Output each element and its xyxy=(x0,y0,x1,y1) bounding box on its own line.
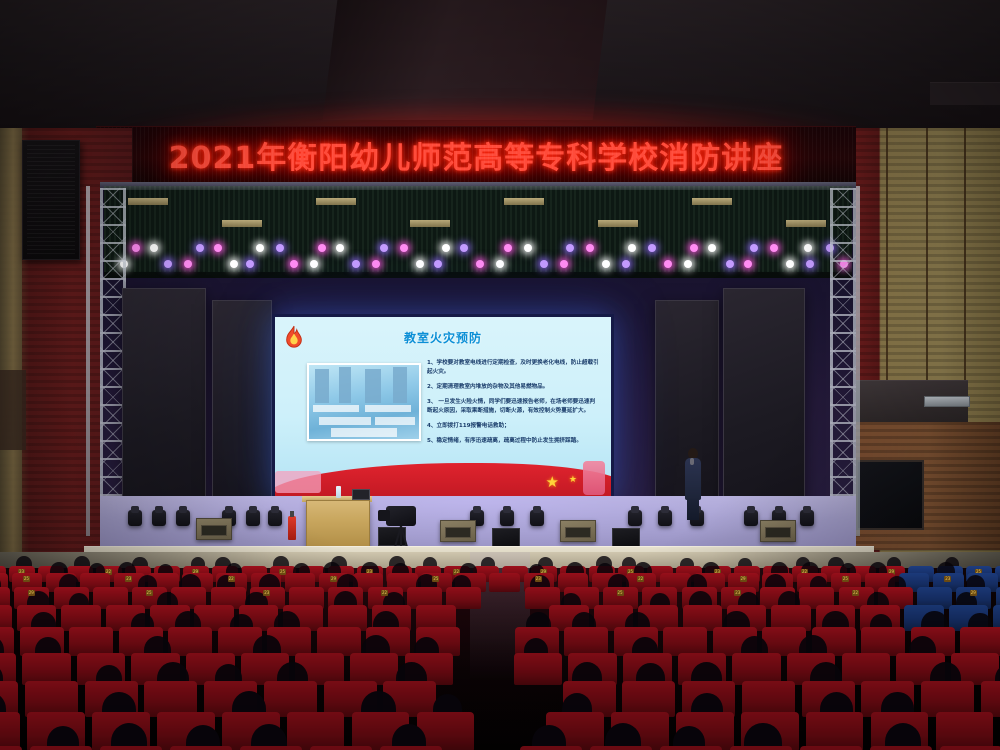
stage-lamp xyxy=(708,244,716,252)
stage-lamp xyxy=(460,244,468,252)
stage-lamp xyxy=(496,260,504,268)
stage-lamp xyxy=(246,260,254,268)
moving-head-light xyxy=(744,510,758,526)
truss-top-beam xyxy=(100,182,856,190)
stage-speaker-box xyxy=(612,528,640,547)
slide-body-text: 1、学校要对教室电线进行定期检查，及时更换老化电线，防止超载引起火灾。2、定期清… xyxy=(427,359,599,452)
seat-number-plate: 29 xyxy=(740,576,747,582)
right-wall-window xyxy=(856,460,924,530)
led-banner-text: 2021年衡阳幼儿师范高等专科学校消防讲座 xyxy=(169,133,784,177)
louver-cap xyxy=(222,220,262,227)
auditorium-seat xyxy=(514,653,563,685)
slide-point: 4、立即拨打119报警电话救助； xyxy=(427,422,599,431)
led-presentation-screen: 教室火灾预防 1、学校要对教室电线进行定期检查，及时更换老化电线，防止超载引起火… xyxy=(272,314,614,502)
stage-lamp xyxy=(664,260,672,268)
slide-content: 教室火灾预防 1、学校要对教室电线进行定期检查，及时更换老化电线，防止超载引起火… xyxy=(275,317,611,499)
stage-lamp xyxy=(540,260,548,268)
auditorium-seat xyxy=(590,746,652,750)
stage-lamp xyxy=(560,260,568,268)
support-pole-right xyxy=(856,186,860,536)
seat-number-plate: 23 xyxy=(944,576,951,582)
seat-number-plate: 25 xyxy=(432,576,439,582)
stage-lamp xyxy=(690,244,698,252)
stage-lamp xyxy=(684,260,692,268)
auditorium-seat xyxy=(287,712,345,750)
stage-lamp xyxy=(806,260,814,268)
stage-monitor-wedge xyxy=(196,518,232,540)
stage-lamp xyxy=(586,244,594,252)
star-icon: ★ xyxy=(546,473,559,491)
auditorium-seat xyxy=(30,746,92,750)
louver-cap xyxy=(410,220,450,227)
slide-point: 3、 一旦发生火险火情，同学们要迅速报告老师，在场老师要迅速判断起火原因，采取果… xyxy=(427,398,599,416)
moving-head-light xyxy=(128,510,142,526)
stage-lamp xyxy=(566,244,574,252)
overhead-lighting-rig xyxy=(104,186,852,278)
auditorium-seat xyxy=(806,712,864,750)
stage-lamp xyxy=(132,244,140,252)
stage-lamp xyxy=(290,260,298,268)
stage-lamp xyxy=(476,260,484,268)
exit-sign-icon xyxy=(924,396,970,407)
laptop xyxy=(352,489,370,500)
stage-lamp xyxy=(164,260,172,268)
camera-body xyxy=(386,506,416,526)
seat-number-plate: 23 xyxy=(125,576,132,582)
stage-wing-panel-4 xyxy=(723,288,805,530)
stage-lamp xyxy=(770,244,778,252)
stage-lamp xyxy=(504,244,512,252)
slide-ribbon-graphic: ★ ★ xyxy=(275,457,611,499)
seat-number-plate: 23 xyxy=(535,576,542,582)
stage-lamp xyxy=(184,260,192,268)
louver-cap xyxy=(786,220,826,227)
louver-cap xyxy=(598,220,638,227)
stage-lamp xyxy=(622,260,630,268)
auditorium-seat xyxy=(310,746,372,750)
auditorium-seat xyxy=(380,746,442,750)
seat-number-plate: 29 xyxy=(28,590,35,596)
stage-lamp xyxy=(726,260,734,268)
slide-classroom-photo xyxy=(307,363,421,441)
support-pole-left xyxy=(86,186,90,536)
moving-head-light xyxy=(176,510,190,526)
moving-head-light xyxy=(152,510,166,526)
stage-lamp xyxy=(442,244,450,252)
stage-monitor-wedge xyxy=(760,520,796,542)
wooden-podium xyxy=(306,500,370,548)
seat-number-plate: 23 xyxy=(734,590,741,596)
left-wall-panel xyxy=(0,370,26,450)
stage-lamp xyxy=(648,244,656,252)
stage-lamp xyxy=(352,260,360,268)
moving-head-light xyxy=(246,510,260,526)
stage-speaker-box xyxy=(492,528,520,547)
auditorium-seat xyxy=(800,746,862,750)
auditorium-seat xyxy=(520,746,582,750)
lecturer-speaker xyxy=(684,448,702,520)
stage-wing-panel-1 xyxy=(122,288,206,530)
louver-cap xyxy=(692,198,732,205)
seat-number-plate: 23 xyxy=(263,590,270,596)
slide-point: 5、稳定情绪，有序迅速疏离，疏离过程中防止发生拥挤踩踏。 xyxy=(427,437,599,446)
auditorium-seat xyxy=(170,746,232,750)
stage-lamp xyxy=(372,260,380,268)
auditorium-seat xyxy=(240,746,302,750)
louver-cap xyxy=(316,198,356,205)
auditorium-seat xyxy=(489,573,520,592)
moving-head-light xyxy=(800,510,814,526)
seat-number-plate: 25 xyxy=(842,576,849,582)
stage-lamp xyxy=(602,260,610,268)
stage-lamp xyxy=(318,244,326,252)
ceiling-louver xyxy=(574,186,669,272)
star-icon: ★ xyxy=(569,475,577,485)
stage-lamp xyxy=(256,244,264,252)
microphone-icon xyxy=(690,458,694,465)
seat-number-plate: 25 xyxy=(617,590,624,596)
seat-number-plate: 22 xyxy=(228,576,235,582)
auditorium-seat xyxy=(730,746,792,750)
slide-point: 1、学校要对教室电线进行定期检查，及时更换老化电线，防止超载引起火灾。 xyxy=(427,359,599,377)
seat-number-plate: 29 xyxy=(970,590,977,596)
auditorium-seat xyxy=(936,712,994,750)
left-wall-speaker xyxy=(22,140,80,260)
ceiling-louver xyxy=(386,186,481,272)
seat-number-plate: 22 xyxy=(381,590,388,596)
seat-number-plate: 25 xyxy=(146,590,153,596)
stage-lamp xyxy=(150,244,158,252)
stage-lamp xyxy=(230,260,238,268)
auditorium-seat xyxy=(0,746,22,750)
auditorium-seat xyxy=(0,712,20,750)
seat-number-plate: 22 xyxy=(852,590,859,596)
auditorium-photo: 2021年衡阳幼儿师范高等专科学校消防讲座 教室火灾预防 xyxy=(0,0,1000,750)
stage-lamp xyxy=(276,244,284,252)
slide-title: 教室火灾预防 xyxy=(275,329,611,346)
stage-lamp xyxy=(750,244,758,252)
audience-seating: 2322292523222925232229252523222925232229… xyxy=(0,552,1000,750)
led-banner: 2021年衡阳幼儿师范高等专科学校消防讲座 xyxy=(96,126,856,184)
seat-number-plate: 29 xyxy=(330,576,337,582)
speaker-legs xyxy=(687,498,699,520)
stage-lamp xyxy=(336,244,344,252)
stage-lamp xyxy=(804,244,812,252)
stage-lamp xyxy=(416,260,424,268)
auditorium-seat xyxy=(870,746,932,750)
stage-lamp xyxy=(214,244,222,252)
auditorium-seat xyxy=(660,746,722,750)
stage-lamp xyxy=(524,244,532,252)
stage-lamp xyxy=(786,260,794,268)
water-bottle xyxy=(336,486,341,498)
stage-lamp xyxy=(400,244,408,252)
left-wall-column xyxy=(0,128,22,568)
seat-number-plate: 25 xyxy=(23,576,30,582)
stage-lamp xyxy=(628,244,636,252)
stage-lamp xyxy=(380,244,388,252)
ceiling-vent xyxy=(930,82,1000,105)
truss-tower-right xyxy=(830,188,856,532)
moving-head-light xyxy=(658,510,672,526)
auditorium-seat xyxy=(940,746,1000,750)
moving-head-light xyxy=(500,510,514,526)
camera-lens xyxy=(378,510,390,521)
louver-cap xyxy=(504,198,544,205)
stage-lamp xyxy=(196,244,204,252)
stage-monitor-wedge xyxy=(560,520,596,542)
moving-head-light xyxy=(530,510,544,526)
louver-cap xyxy=(128,198,168,205)
fire-extinguisher xyxy=(288,516,296,540)
stage-monitor-wedge xyxy=(440,520,476,542)
moving-head-light xyxy=(628,510,642,526)
fire-extinguisher-icon xyxy=(583,461,605,495)
stage-lamp xyxy=(744,260,752,268)
stage-lamp xyxy=(310,260,318,268)
ceiling-louver xyxy=(198,186,293,272)
stage-lamp xyxy=(434,260,442,268)
moving-head-light xyxy=(268,510,282,526)
seat-number-plate: 22 xyxy=(637,576,644,582)
auditorium-seat xyxy=(100,746,162,750)
slide-point: 2、定期清理教室内堆放的杂物及其他易燃物品。 xyxy=(427,383,599,392)
